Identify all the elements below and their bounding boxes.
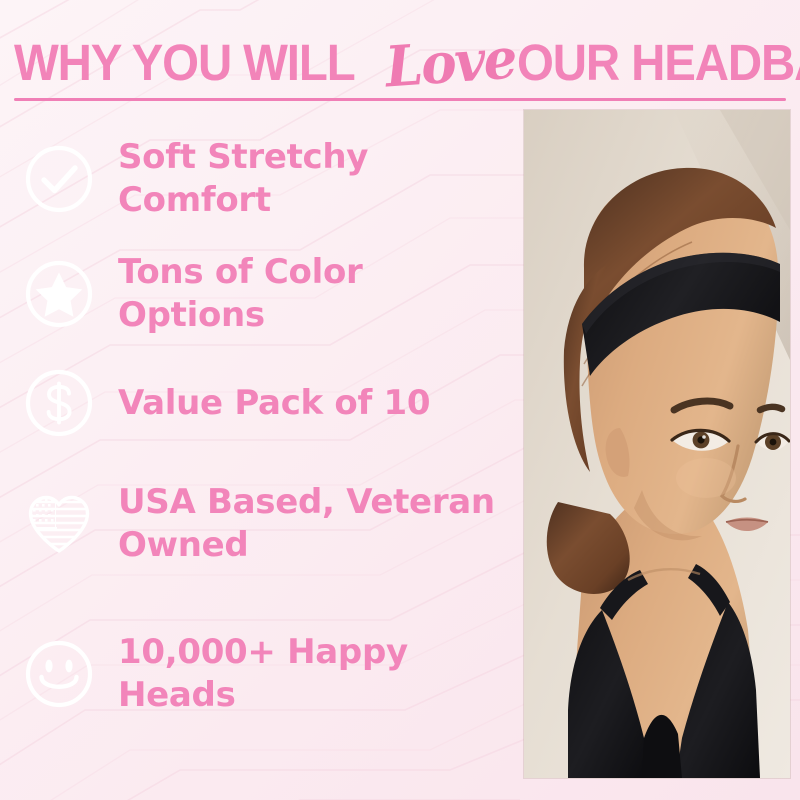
feature-label: USA Based, Veteran Owned [118,481,518,567]
page-title: WHY YOU WILLLoveOUR HEADBANDS [14,28,786,90]
feature-item-value-pack-of-10: Value Pack of 10 [14,366,430,440]
star-circle-icon [22,257,96,331]
check-circle-icon [22,142,96,216]
feature-label: Tons of Color Options [118,251,518,337]
title-part-one: WHY YOU WILL [14,33,355,92]
usa-flag-heart-icon [22,487,96,561]
feature-label: Soft Stretchy Comfort [118,136,518,222]
feature-item-soft-stretchy-comfort: Soft Stretchy Comfort [14,136,518,222]
product-photo [524,110,790,778]
feature-item-happy-heads: 10,000+ Happy Heads [14,631,518,717]
smiley-circle-icon [22,637,96,711]
promo-banner: WHY YOU WILLLoveOUR HEADBANDS Soft Stret… [0,0,800,800]
header: WHY YOU WILLLoveOUR HEADBANDS [0,0,800,110]
feature-item-usa-based-veteran-owned: USA Based, Veteran Owned [14,481,518,567]
feature-label: Value Pack of 10 [118,382,430,425]
feature-item-tons-of-color-options: Tons of Color Options [14,251,518,337]
title-divider [14,98,786,101]
feature-list: Soft Stretchy Comfort Tons of Color Opti… [14,118,524,788]
dollar-circle-icon [22,366,96,440]
title-script-word: Love [383,26,517,101]
title-part-two: OUR HEADBANDS [517,33,800,92]
feature-label: 10,000+ Happy Heads [118,631,518,717]
